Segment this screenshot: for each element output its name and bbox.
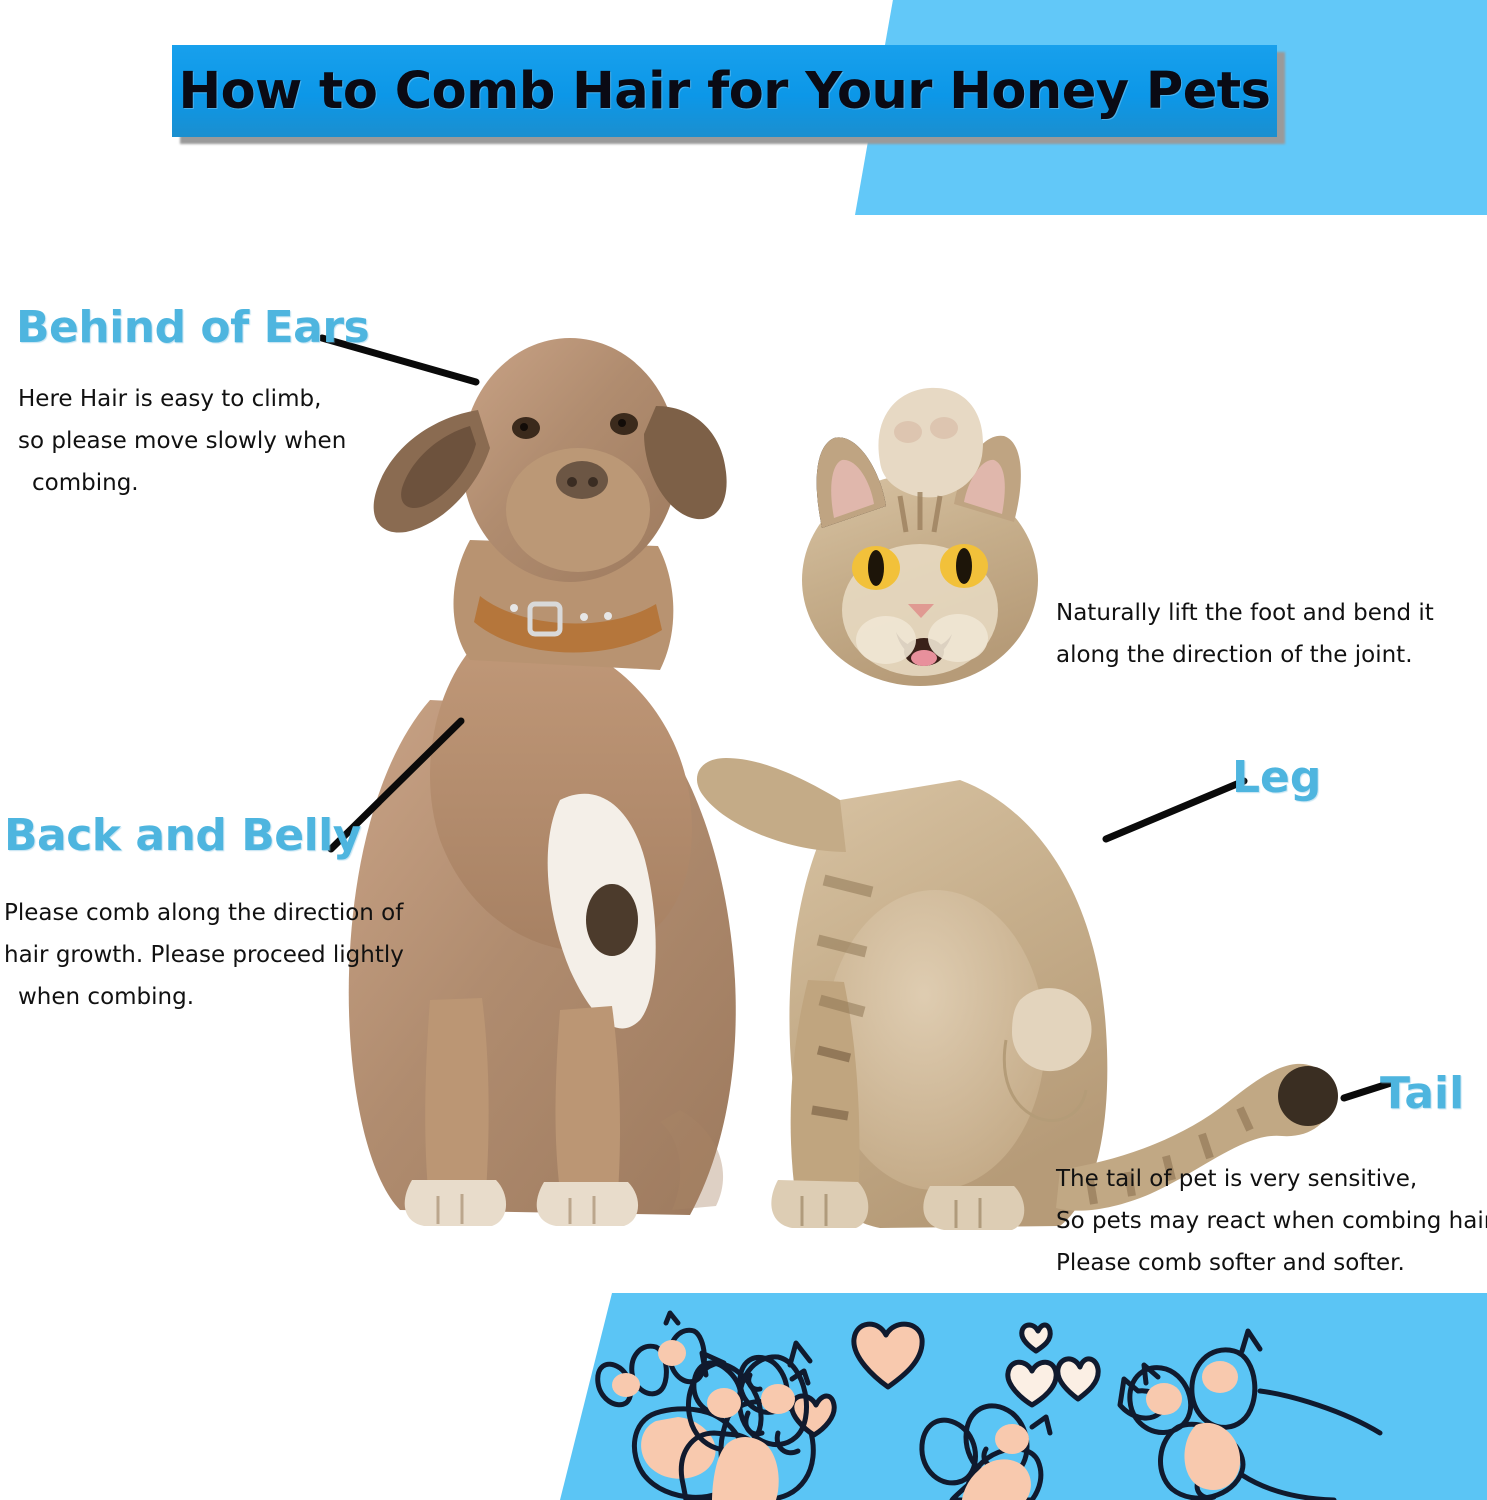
annotation-text-tail: The tail of pet is very sensitive, So pe… [1056,1158,1487,1284]
footer-banner-svg [560,1293,1487,1500]
annotation-label-behind-of-ears: Behind of Ears [16,302,369,353]
annotation-text-line: Please comb softer and softer. [1056,1242,1487,1284]
annotation-text-leg: Naturally lift the foot and bend it alon… [1056,592,1434,676]
leader-line-leg [1100,775,1250,845]
annotation-text-line: Naturally lift the foot and bend it [1056,592,1434,634]
annotation-label-leg: Leg [1232,752,1321,803]
annotation-text-line: So pets may react when combing hair, [1056,1200,1487,1242]
annotation-label-back-and-belly: Back and Belly [4,810,361,861]
annotation-text-line: so please move slowly when [18,420,346,462]
footer-banner [560,1293,1487,1500]
annotation-text-line: when combing. [4,976,404,1018]
page-title: How to Comb Hair for Your Honey Pets [178,62,1270,121]
annotation-text-back-and-belly: Please comb along the direction of hair … [4,892,404,1018]
annotation-label-tail: Tail [1380,1068,1464,1119]
annotation-text-line: Here Hair is easy to climb, [18,378,346,420]
infographic-page: How to Comb Hair for Your Honey Pets [0,0,1487,1500]
annotation-text-line: hair growth. Please proceed lightly [4,934,404,976]
annotation-text-line: Please comb along the direction of [4,892,404,934]
header-bar: How to Comb Hair for Your Honey Pets [172,45,1277,137]
annotation-text-line: along the direction of the joint. [1056,634,1434,676]
annotation-text-line: combing. [18,462,346,504]
annotation-text-behind-of-ears: Here Hair is easy to climb, so please mo… [18,378,346,504]
annotation-text-line: The tail of pet is very sensitive, [1056,1158,1487,1200]
